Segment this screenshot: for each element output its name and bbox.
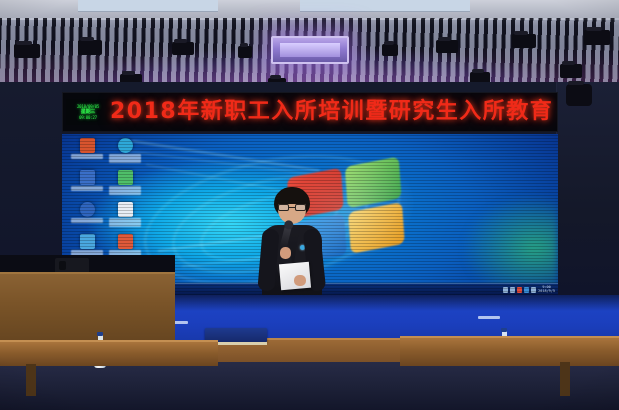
led-clock: 2018/09/05 星期三 09:00:27 (66, 99, 110, 125)
table-right (400, 336, 619, 366)
ceiling-spotlight-3 (172, 42, 194, 55)
ceiling (0, 0, 619, 86)
ceiling-spotlight-5 (382, 44, 398, 56)
speaker-hand-right (294, 275, 306, 286)
ceiling-spotlight-1 (14, 44, 40, 58)
skylight-panel-2 (300, 0, 470, 12)
table-leg-left (26, 364, 36, 396)
skylight-panel-1 (78, 0, 218, 12)
ceiling-spotlight-2 (78, 40, 102, 55)
led-banner: 2018/09/05 星期三 09:00:27 2018年新职工入所培训暨研究生… (62, 92, 558, 132)
ceiling-spotlight-7 (512, 34, 536, 48)
stage-paper-slip-3 (478, 316, 500, 319)
auditorium-scene: 2018/09/05 星期三 09:00:27 2018年新职工入所培训暨研究生… (0, 0, 619, 410)
ceiling-spotlight-6 (436, 40, 458, 53)
ceiling-light-fixture (271, 36, 349, 64)
table-left (0, 340, 218, 366)
speaker-hand-left (280, 247, 291, 259)
ceiling-spotlight-8 (584, 30, 610, 45)
wall-spotlight-right (566, 84, 592, 106)
table-leg-right (560, 362, 570, 396)
led-banner-title: 2018年新职工入所培训暨研究生入所教育 (110, 101, 558, 123)
ceiling-spotlight-12 (560, 64, 582, 78)
eyeglasses-icon (278, 204, 306, 211)
wall-right-panel (556, 82, 619, 297)
ceiling-spotlight-4 (238, 46, 252, 58)
speaker-hair-fringe (275, 191, 309, 204)
led-clock-time: 09:00:27 (79, 115, 97, 120)
